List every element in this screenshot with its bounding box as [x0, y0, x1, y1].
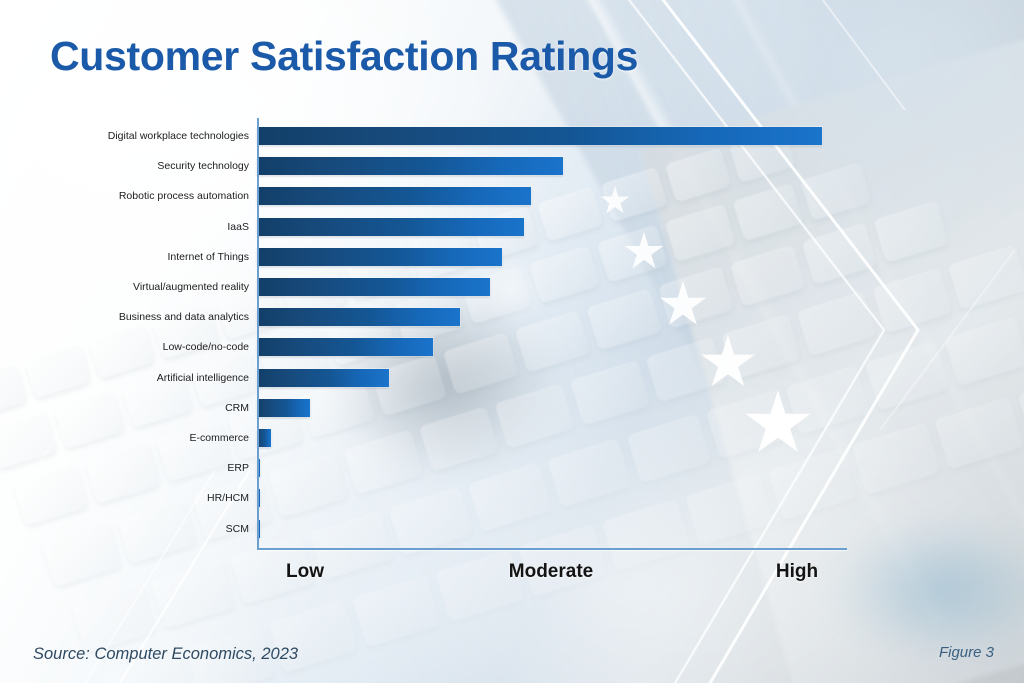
bar-category-label: ERP	[0, 462, 249, 474]
x-axis-tick-label: Low	[286, 561, 324, 583]
bar-category-label: Security technology	[0, 160, 249, 172]
bar-category-label: HR/HCM	[0, 492, 249, 504]
y-axis-line	[257, 118, 259, 550]
bar-category-label: E-commerce	[0, 432, 249, 444]
bar-business-and-data-analytics	[257, 308, 460, 326]
bar-category-label: Robotic process automation	[0, 190, 249, 202]
bar-digital-workplace-technologies	[257, 127, 822, 145]
bar-security-technology	[257, 157, 563, 175]
x-axis-tick-label: Moderate	[509, 561, 593, 583]
bar-robotic-process-automation	[257, 187, 531, 205]
bar-category-label: SCM	[0, 523, 249, 535]
bar-category-label: Artificial intelligence	[0, 372, 249, 384]
bar-crm	[257, 399, 310, 417]
bar-category-label: Internet of Things	[0, 251, 249, 263]
bar-chart: Digital workplace technologiesSecurity t…	[0, 0, 1024, 683]
bar-category-label: Low-code/no-code	[0, 341, 249, 353]
bar-internet-of-things	[257, 248, 502, 266]
source-note: Source: Computer Economics, 2023	[33, 645, 298, 664]
bar-iaas	[257, 218, 524, 236]
bar-category-label: CRM	[0, 402, 249, 414]
bar-category-label: Virtual/augmented reality	[0, 281, 249, 293]
bar-virtual-augmented-reality	[257, 278, 490, 296]
x-axis-tick-label: High	[776, 561, 818, 583]
bar-category-label: IaaS	[0, 221, 249, 233]
x-axis-line	[257, 548, 847, 550]
figure-number: Figure 3	[939, 644, 994, 661]
bar-low-code-no-code	[257, 338, 433, 356]
bar-artificial-intelligence	[257, 369, 389, 387]
bar-category-label: Digital workplace technologies	[0, 130, 249, 142]
bar-category-label: Business and data analytics	[0, 311, 249, 323]
slide-canvas: Customer Satisfaction Ratings Digital wo…	[0, 0, 1024, 683]
